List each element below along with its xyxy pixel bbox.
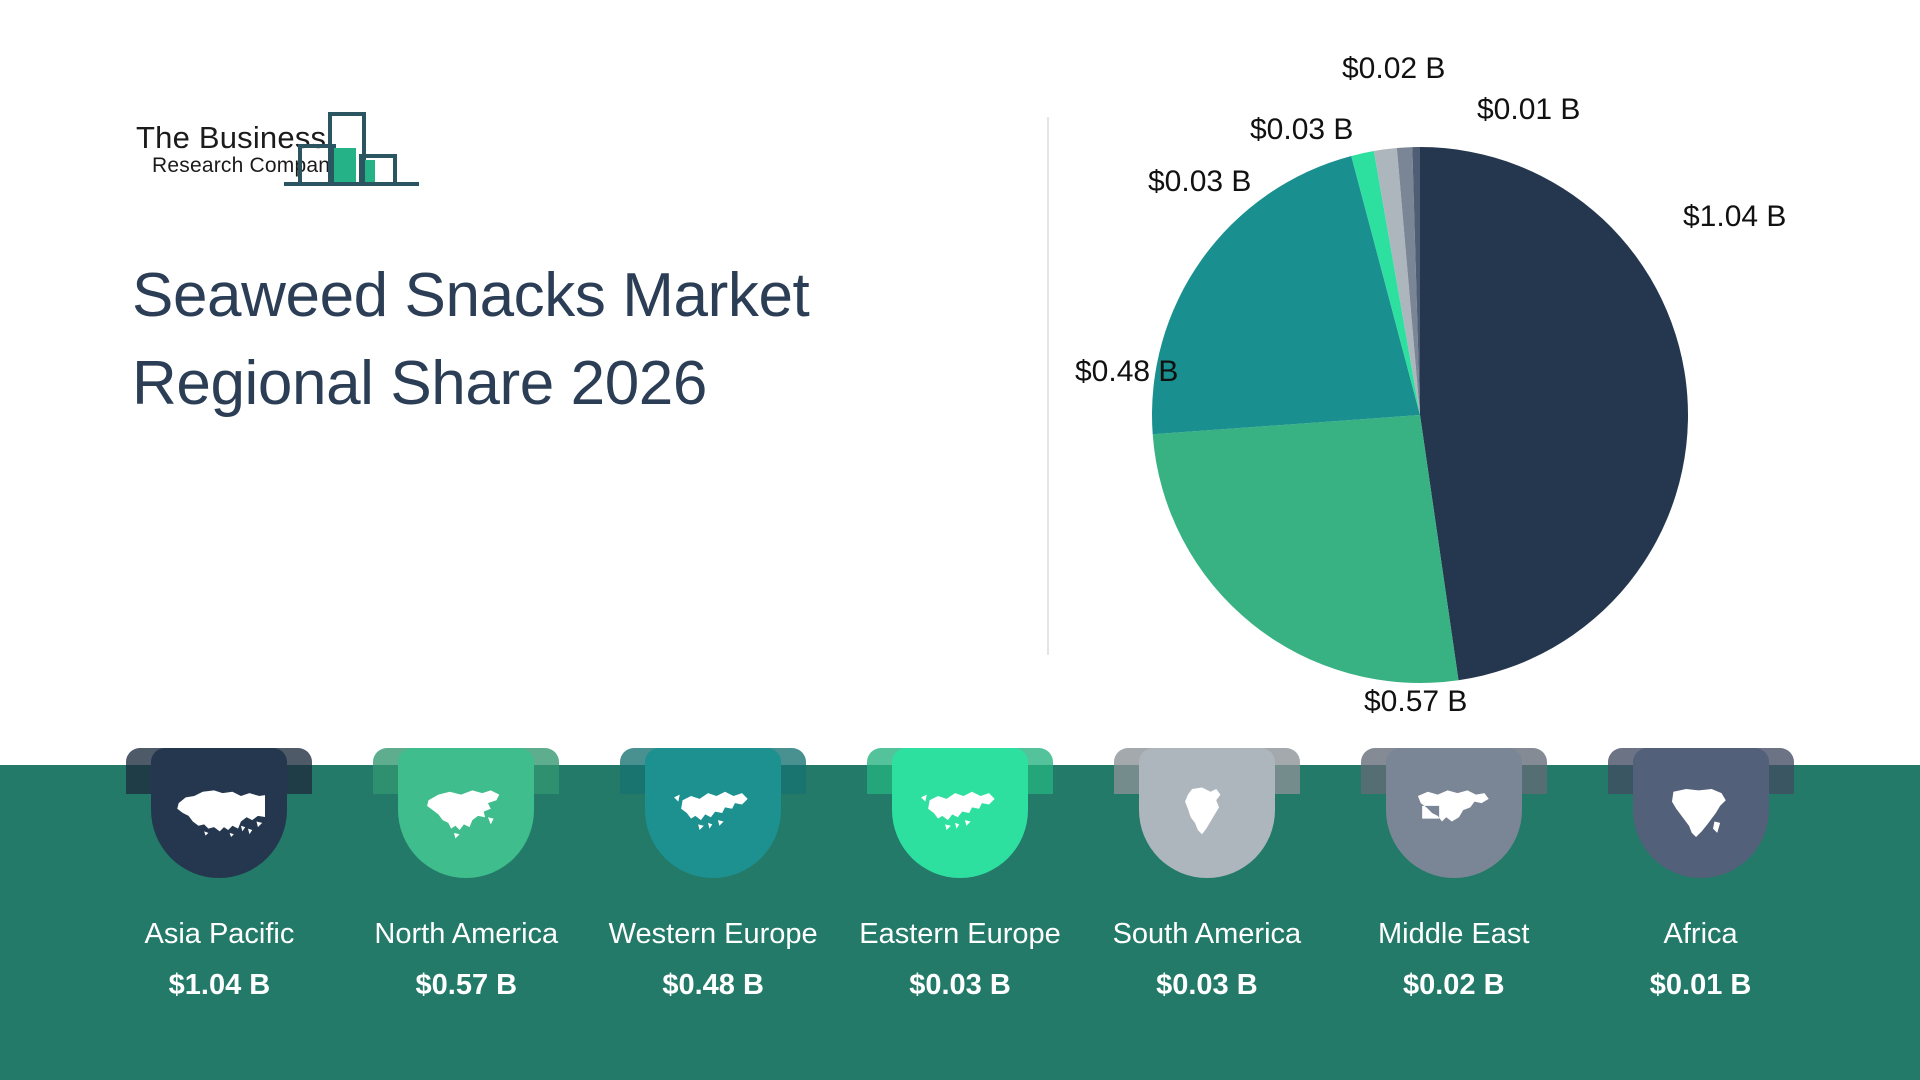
- company-logo: The Business Research Company: [134, 100, 424, 188]
- page-title-line-2: Regional Share 2026: [132, 340, 962, 428]
- pie-value-label: $0.48 B: [1075, 355, 1178, 389]
- pie-value-label: $0.03 B: [1148, 165, 1251, 199]
- pie-value-label: $0.01 B: [1477, 93, 1580, 127]
- region-badge[interactable]: North America$0.57 B: [343, 748, 590, 1080]
- region-name-label: North America: [374, 920, 558, 949]
- region-pin-body: [151, 748, 287, 878]
- pie-slice-asia-pacific: [1420, 147, 1688, 680]
- svg-text:Research Company: Research Company: [152, 154, 341, 177]
- region-value-label: $0.02 B: [1403, 971, 1505, 1000]
- logo-bar-accent-2-icon: [365, 160, 375, 184]
- western-europe-map-icon: [667, 776, 759, 850]
- region-badge[interactable]: Western Europe$0.48 B: [590, 748, 837, 1080]
- region-pin: [1114, 748, 1300, 878]
- region-name-label: Western Europe: [609, 920, 818, 949]
- region-name-label: Asia Pacific: [144, 920, 294, 949]
- region-name-label: South America: [1113, 920, 1302, 949]
- region-name-label: Eastern Europe: [859, 920, 1061, 949]
- region-pin-body: [1386, 748, 1522, 878]
- region-badge[interactable]: South America$0.03 B: [1083, 748, 1330, 1080]
- region-badge[interactable]: Africa$0.01 B: [1577, 748, 1824, 1080]
- region-name-label: Middle East: [1378, 920, 1530, 949]
- region-pin: [373, 748, 559, 878]
- page-title-line-1: Seaweed Snacks Market: [132, 252, 962, 340]
- pie-value-label: $1.04 B: [1683, 200, 1786, 234]
- pie-chart: [1150, 145, 1690, 685]
- vertical-divider: [1047, 117, 1049, 655]
- region-pin-body: [1139, 748, 1275, 878]
- region-badge[interactable]: Asia Pacific$1.04 B: [96, 748, 343, 1080]
- africa-map-icon: [1655, 776, 1747, 850]
- middle-east-map-icon: [1408, 776, 1500, 850]
- region-badge[interactable]: Middle East$0.02 B: [1330, 748, 1577, 1080]
- region-name-label: Africa: [1664, 920, 1738, 949]
- region-pin-body: [1633, 748, 1769, 878]
- logo-wordmark-icon: The Business Research Company: [136, 120, 341, 177]
- region-value-label: $0.01 B: [1650, 971, 1752, 1000]
- logo-bar-accent-icon: [334, 148, 356, 184]
- region-pin-body: [645, 748, 781, 878]
- region-value-label: $1.04 B: [169, 971, 271, 1000]
- region-pin-body: [892, 748, 1028, 878]
- region-value-label: $0.57 B: [416, 971, 518, 1000]
- region-pin: [126, 748, 312, 878]
- pie-value-label: $0.57 B: [1364, 685, 1467, 719]
- page-title: Seaweed Snacks Market Regional Share 202…: [132, 252, 962, 428]
- pie-slice-north-america: [1153, 415, 1459, 683]
- svg-text:The Business: The Business: [136, 120, 326, 155]
- region-value-label: $0.48 B: [662, 971, 764, 1000]
- region-pin: [1361, 748, 1547, 878]
- region-pin: [867, 748, 1053, 878]
- region-badge[interactable]: Eastern Europe$0.03 B: [837, 748, 1084, 1080]
- north-america-map-icon: [420, 776, 512, 850]
- asia-pacific-map-icon: [173, 776, 265, 850]
- region-value-label: $0.03 B: [1156, 971, 1258, 1000]
- eastern-europe-map-icon: [914, 776, 1006, 850]
- pie-value-label: $0.03 B: [1250, 113, 1353, 147]
- south-america-map-icon: [1161, 776, 1253, 850]
- pie-value-label: $0.02 B: [1342, 52, 1445, 86]
- region-pin-body: [398, 748, 534, 878]
- region-pin: [620, 748, 806, 878]
- region-value-label: $0.03 B: [909, 971, 1011, 1000]
- region-pin: [1608, 748, 1794, 878]
- region-badge-row: Asia Pacific$1.04 BNorth America$0.57 BW…: [0, 748, 1920, 1080]
